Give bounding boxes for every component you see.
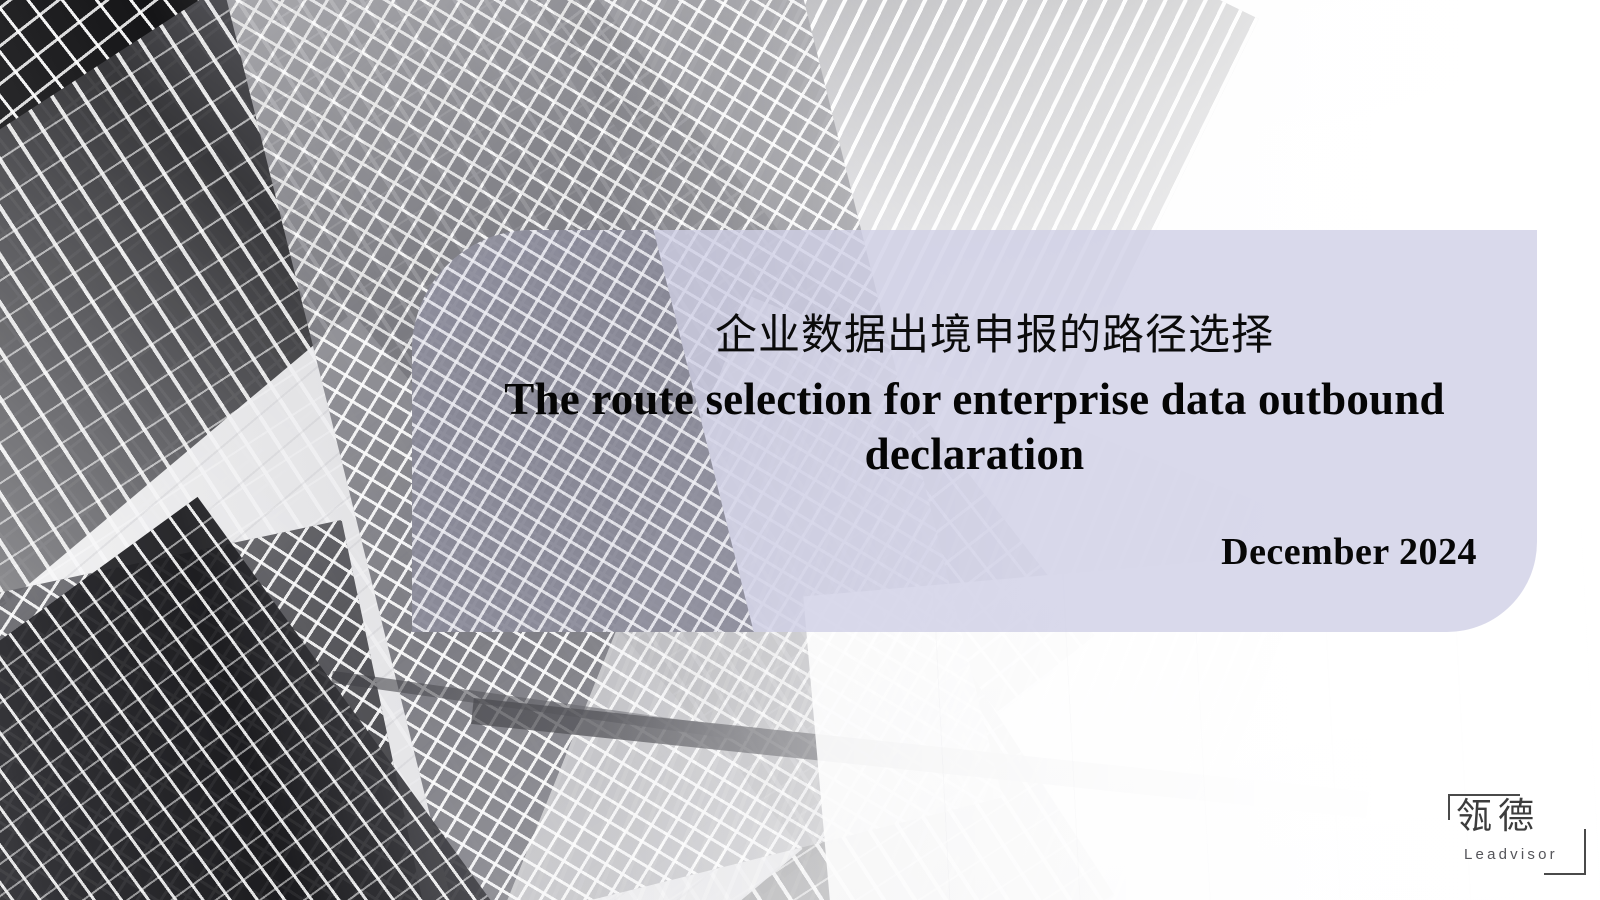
title-text-block: 企业数据出境申报的路径选择 The route selection for en… [412, 230, 1537, 632]
title-slide: 企业数据出境申报的路径选择 The route selection for en… [0, 0, 1600, 900]
slide-date: December 2024 [1221, 530, 1477, 574]
slide-title-english: The route selection for enterprise data … [452, 372, 1497, 482]
slide-title-chinese: 企业数据出境申报的路径选择 [412, 312, 1537, 358]
logo-mark-chinese: 瓴德 [1456, 796, 1540, 838]
company-logo: 瓴德 Leadvisor [1440, 788, 1588, 880]
logo-wordmark: Leadvisor [1464, 846, 1558, 863]
